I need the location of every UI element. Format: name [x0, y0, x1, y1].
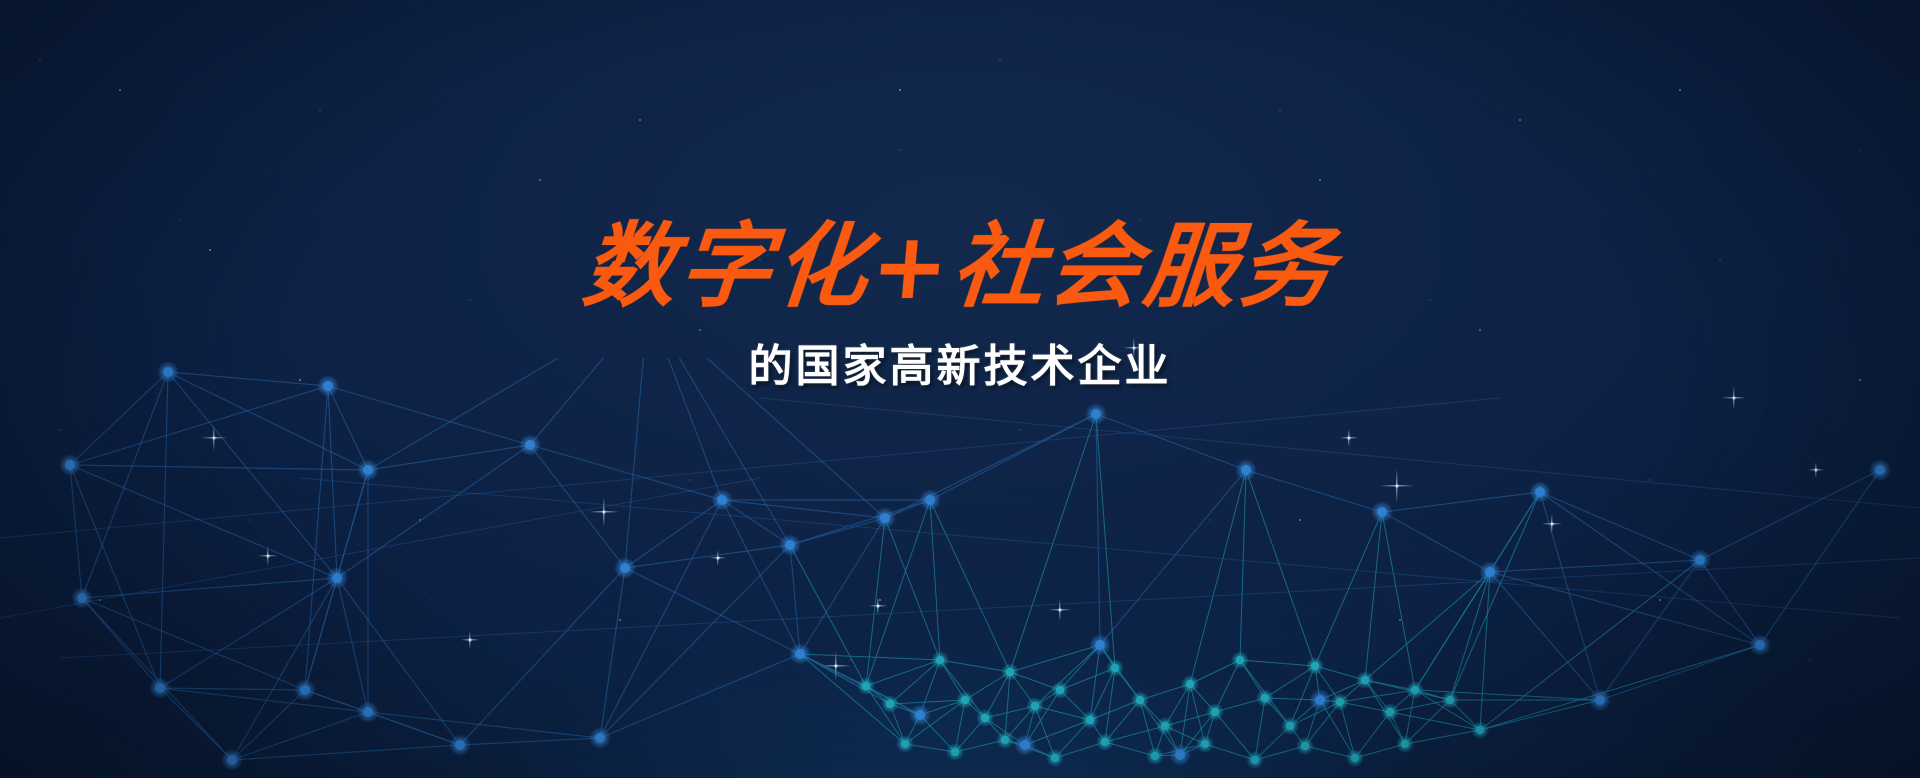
mesh-node — [1695, 555, 1705, 565]
mesh-edge — [337, 578, 460, 745]
mesh-node — [77, 593, 87, 603]
mesh-node — [880, 513, 890, 523]
mesh-node — [1261, 694, 1269, 702]
mesh-edge-long — [300, 478, 1900, 618]
mesh-edge — [1600, 560, 1700, 700]
mesh-edge — [885, 518, 940, 660]
mesh-node — [1755, 640, 1765, 650]
mesh-edge — [1700, 560, 1760, 645]
hero-banner: 数字化+社会服务 的国家高新技术企业 — [0, 0, 1920, 778]
mesh-edge — [1010, 645, 1100, 672]
mesh-node — [886, 700, 894, 708]
mesh-edge — [885, 414, 1096, 518]
mesh-node — [1401, 740, 1409, 748]
mesh-node — [227, 755, 237, 765]
mesh-node — [1476, 726, 1484, 734]
mesh-edge — [328, 386, 368, 470]
mesh-edge — [1540, 492, 1700, 560]
mesh-node — [915, 710, 925, 720]
mesh-edge — [1540, 492, 1600, 700]
mesh-edge — [1100, 470, 1246, 645]
mesh-edge — [1365, 512, 1382, 680]
mesh-edge — [70, 465, 368, 470]
mesh-edge — [1255, 698, 1265, 760]
mesh-edge-long — [0, 478, 760, 618]
mesh-node — [1446, 696, 1454, 704]
mesh-node — [981, 714, 989, 722]
mesh-edge — [460, 568, 625, 745]
mesh-edge — [866, 660, 940, 686]
mesh-edge — [328, 386, 337, 578]
mesh-edge — [70, 465, 337, 578]
mesh-node — [1020, 740, 1030, 750]
mesh-node — [1086, 716, 1094, 724]
mesh-edge — [625, 500, 722, 568]
mesh-node — [951, 748, 959, 756]
mesh-node — [901, 740, 909, 748]
mesh-edge — [1405, 730, 1480, 744]
mesh-node — [1286, 722, 1294, 730]
mesh-edge — [1760, 470, 1880, 645]
mesh-node — [1201, 740, 1209, 748]
mesh-node — [1161, 722, 1169, 730]
mesh-edge — [1215, 712, 1255, 760]
mesh-node — [1315, 695, 1325, 705]
mesh-node — [1251, 756, 1259, 764]
mesh-node — [961, 696, 969, 704]
mesh-node — [717, 495, 727, 505]
mesh-edge — [160, 688, 305, 690]
mesh-edge — [70, 386, 328, 465]
mesh-edge — [1700, 470, 1880, 560]
mesh-node — [1031, 702, 1039, 710]
mesh-edge — [460, 738, 600, 745]
mesh-node — [1151, 752, 1159, 760]
mesh-edge — [1415, 572, 1490, 690]
mesh-node — [65, 460, 75, 470]
mesh-node — [1301, 742, 1309, 750]
mesh-node — [1095, 640, 1105, 650]
mesh-edge — [82, 372, 168, 598]
mesh-node — [795, 649, 805, 659]
mesh-node — [1875, 465, 1885, 475]
mesh-edge — [600, 500, 722, 738]
mesh-edge — [1105, 726, 1165, 742]
mesh-edge — [1382, 512, 1490, 572]
mesh-node — [1006, 668, 1014, 676]
mesh-node — [1001, 736, 1009, 744]
mesh-node — [1377, 507, 1387, 517]
mesh-edge — [82, 598, 160, 688]
mesh-node — [1051, 754, 1059, 762]
mesh-edge — [625, 545, 790, 568]
mesh-node — [300, 685, 310, 695]
mesh-edge — [1240, 470, 1246, 660]
mesh-edge — [1490, 572, 1600, 700]
mesh-node — [1485, 567, 1495, 577]
mesh-edge — [168, 372, 337, 578]
mesh-node — [363, 465, 373, 475]
mesh-edge — [70, 465, 160, 688]
mesh-node — [620, 563, 630, 573]
mesh-edge — [160, 688, 368, 712]
mesh-edge — [930, 500, 940, 660]
mesh-edge — [1490, 572, 1760, 645]
mesh-edge — [940, 660, 1010, 672]
mesh-edge — [530, 445, 625, 568]
mesh-edge — [930, 500, 1010, 672]
mesh-node — [1211, 708, 1219, 716]
mesh-node — [1056, 686, 1064, 694]
page-title: 数字化+社会服务 — [0, 218, 1920, 316]
mesh-edge — [1005, 672, 1010, 740]
mesh-edge — [232, 745, 460, 760]
mesh-node — [1595, 695, 1605, 705]
banner-text-block: 数字化+社会服务 的国家高新技术企业 — [0, 218, 1920, 394]
mesh-edge — [1246, 470, 1382, 512]
mesh-edge — [600, 654, 800, 738]
mesh-node — [785, 540, 795, 550]
mesh-node — [1351, 754, 1359, 762]
page-subtitle: 的国家高新技术企业 — [0, 330, 1920, 394]
mesh-edge — [1600, 645, 1760, 700]
mesh-node — [1336, 698, 1344, 706]
mesh-edge — [722, 500, 800, 654]
mesh-edge — [1382, 512, 1415, 690]
mesh-node — [1186, 680, 1194, 688]
mesh-node — [525, 440, 535, 450]
mesh-edge — [1382, 492, 1540, 512]
mesh-edge — [1450, 572, 1490, 700]
mesh-node — [936, 656, 944, 664]
mesh-edge — [160, 688, 232, 760]
mesh-edge — [1365, 572, 1490, 680]
mesh-node — [1236, 656, 1244, 664]
mesh-edge — [1246, 470, 1315, 666]
mesh-node — [862, 682, 870, 690]
mesh-edge — [1450, 492, 1540, 700]
mesh-edge — [82, 598, 305, 690]
mesh-edge — [232, 578, 337, 760]
mesh-node — [1361, 676, 1369, 684]
mesh-node — [925, 495, 935, 505]
mesh-edge — [1010, 414, 1096, 672]
mesh-edge — [722, 500, 885, 518]
mesh-node — [1175, 750, 1185, 760]
mesh-node — [455, 740, 465, 750]
mesh-node — [1136, 696, 1144, 704]
network-mesh-graphic — [0, 358, 1920, 778]
mesh-edge — [1480, 700, 1600, 730]
mesh-node — [1386, 708, 1394, 716]
mesh-node — [1091, 409, 1101, 419]
mesh-edge — [625, 568, 800, 654]
mesh-node — [1241, 465, 1251, 475]
mesh-edge — [1490, 560, 1700, 572]
mesh-edge — [160, 372, 168, 688]
mesh-edge — [1480, 645, 1760, 730]
mesh-node — [1411, 686, 1419, 694]
mesh-edge — [368, 445, 530, 470]
mesh-edge — [328, 386, 530, 445]
mesh-node — [1535, 487, 1545, 497]
mesh-edge — [1096, 414, 1100, 645]
mesh-node — [332, 573, 342, 583]
mesh-node — [1111, 664, 1119, 672]
mesh-edge — [1480, 572, 1490, 730]
mesh-node — [595, 733, 605, 743]
mesh-edge — [530, 445, 722, 500]
mesh-node — [155, 683, 165, 693]
mesh-node — [1101, 738, 1109, 746]
mesh-node — [363, 707, 373, 717]
mesh-edge — [940, 660, 985, 718]
mesh-node — [1311, 662, 1319, 670]
mesh-edge — [1240, 660, 1315, 666]
